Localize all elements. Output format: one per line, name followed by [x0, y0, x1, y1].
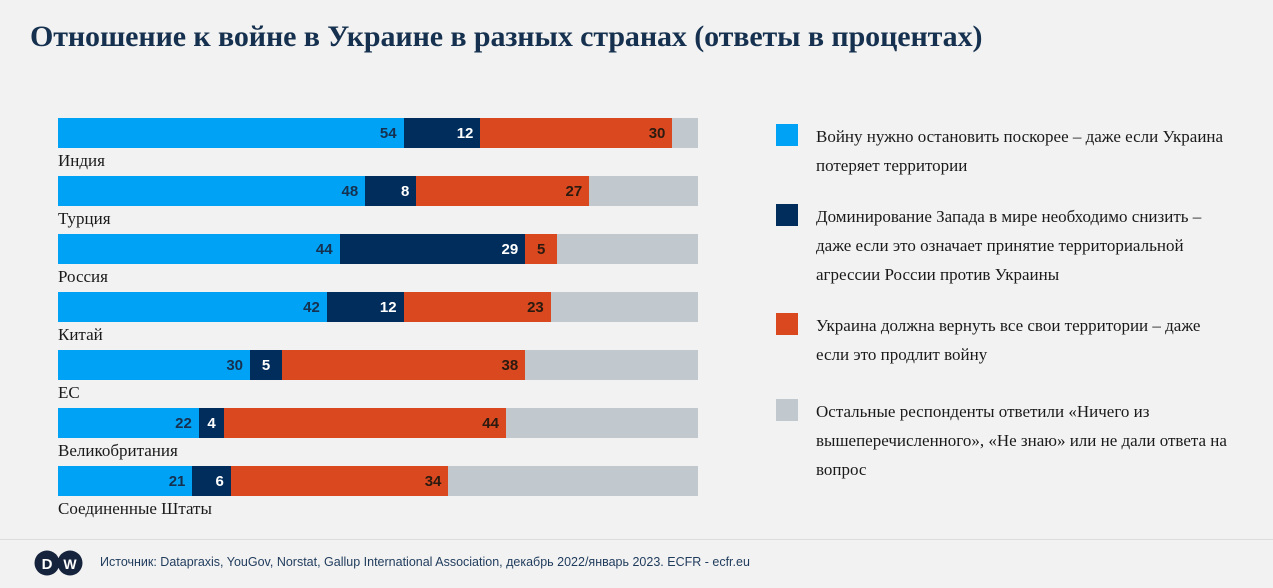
bar-segment-navy: 6	[192, 466, 230, 496]
legend-label: Остальные респонденты ответили «Ничего и…	[816, 397, 1236, 484]
legend-item: Войну нужно остановить поскорее – даже е…	[776, 122, 1246, 180]
bar-segment-orange: 34	[231, 466, 449, 496]
bar-segment-blue: 22	[58, 408, 199, 438]
stacked-bar: 22444	[58, 408, 698, 438]
chart-row: 421223Китай	[58, 292, 698, 350]
bar-segment-blue: 48	[58, 176, 365, 206]
stacked-bar: 30538	[58, 350, 698, 380]
legend-item: Доминирование Запада в мире необходимо с…	[776, 202, 1246, 289]
country-label: Турция	[58, 209, 111, 229]
bar-segment-orange: 5	[525, 234, 557, 264]
bar-segment-navy: 12	[404, 118, 481, 148]
bar-segment-navy: 8	[365, 176, 416, 206]
stacked-bar: 44295	[58, 234, 698, 264]
bar-segment-navy: 29	[340, 234, 526, 264]
svg-text:D: D	[42, 556, 53, 573]
bar-segment-orange: 30	[480, 118, 672, 148]
legend-swatch-navy	[776, 204, 798, 226]
legend-label: Украина должна вернуть все свои территор…	[816, 311, 1236, 369]
legend-swatch-orange	[776, 313, 798, 335]
chart-row: 22444Великобритания	[58, 408, 698, 466]
country-label: Великобритания	[58, 441, 178, 461]
stacked-bar: 48827	[58, 176, 698, 206]
bar-segment-orange: 44	[224, 408, 506, 438]
country-label: Россия	[58, 267, 108, 287]
legend-item: Остальные респонденты ответили «Ничего и…	[776, 397, 1246, 484]
legend-swatch-blue	[776, 124, 798, 146]
legend-label: Доминирование Запада в мире необходимо с…	[816, 202, 1236, 289]
bar-segment-blue: 30	[58, 350, 250, 380]
chart-row: 541230Индия	[58, 118, 698, 176]
bar-segment-orange: 23	[404, 292, 551, 322]
bar-segment-orange: 38	[282, 350, 525, 380]
bar-chart: 541230Индия48827Турция44295Россия421223К…	[58, 118, 698, 524]
chart-row: 48827Турция	[58, 176, 698, 234]
chart-legend: Войну нужно остановить поскорее – даже е…	[776, 122, 1246, 506]
chart-row: 44295Россия	[58, 234, 698, 292]
chart-row: 30538ЕС	[58, 350, 698, 408]
bar-segment-orange: 27	[416, 176, 589, 206]
bar-segment-navy: 4	[199, 408, 225, 438]
country-label: Китай	[58, 325, 103, 345]
stacked-bar: 541230	[58, 118, 698, 148]
page-title: Отношение к войне в Украине в разных стр…	[30, 18, 1230, 56]
country-label: Соединенные Штаты	[58, 499, 212, 519]
source-note: Источник: Datapraxis, YouGov, Norstat, G…	[100, 555, 750, 569]
bar-segment-blue: 21	[58, 466, 192, 496]
bar-segment-navy: 12	[327, 292, 404, 322]
svg-text:W: W	[63, 556, 77, 572]
bar-segment-navy: 5	[250, 350, 282, 380]
bar-segment-blue: 44	[58, 234, 340, 264]
legend-label: Войну нужно остановить поскорее – даже е…	[816, 122, 1236, 180]
dw-logo-icon: D W	[32, 550, 88, 576]
stacked-bar: 21634	[58, 466, 698, 496]
country-label: Индия	[58, 151, 105, 171]
stacked-bar: 421223	[58, 292, 698, 322]
legend-item: Украина должна вернуть все свои территор…	[776, 311, 1246, 369]
bar-segment-blue: 42	[58, 292, 327, 322]
country-label: ЕС	[58, 383, 80, 403]
bar-segment-blue: 54	[58, 118, 404, 148]
chart-row: 21634Соединенные Штаты	[58, 466, 698, 524]
legend-swatch-grey	[776, 399, 798, 421]
footer: D W Источник: Datapraxis, YouGov, Norsta…	[0, 539, 1273, 588]
